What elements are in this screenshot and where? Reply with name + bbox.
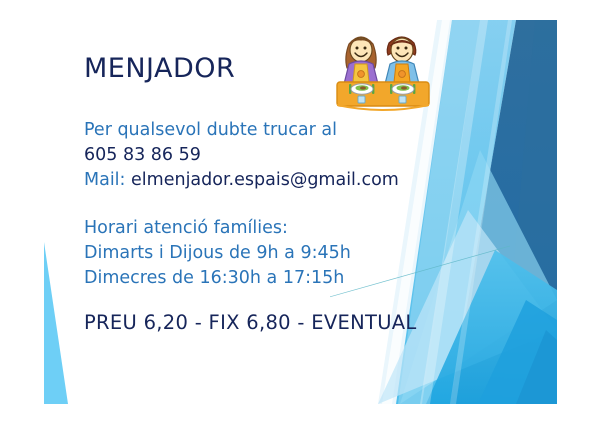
hours-heading: Horari atenció famílies: bbox=[84, 216, 351, 241]
hours-line-tue-thu: Dimarts i Dijous de 9h a 9:45h bbox=[84, 241, 351, 266]
text-layer: MENJADOR Per qualsevol dubte trucar al 6… bbox=[0, 0, 600, 424]
hours-block: Horari atenció famílies: Dimarts i Dijou… bbox=[84, 216, 351, 291]
contact-block: Per qualsevol dubte trucar al 605 83 86 … bbox=[84, 118, 399, 193]
price-line: PREU 6,20 - FIX 6,80 - EVENTUAL bbox=[84, 310, 417, 335]
contact-instruction-line: Per qualsevol dubte trucar al bbox=[84, 118, 399, 143]
hours-line-wed: Dimecres de 16:30h a 17:15h bbox=[84, 266, 351, 291]
page-title: MENJADOR bbox=[84, 53, 235, 84]
phone-number: 605 83 86 59 bbox=[84, 143, 399, 168]
email-address-value: elmenjador.espais@gmail.com bbox=[131, 170, 399, 190]
email-line: Mail: elmenjador.espais@gmail.com bbox=[84, 168, 399, 193]
slide-canvas: MENJADOR Per qualsevol dubte trucar al 6… bbox=[0, 0, 600, 424]
email-label: Mail: bbox=[84, 170, 125, 190]
